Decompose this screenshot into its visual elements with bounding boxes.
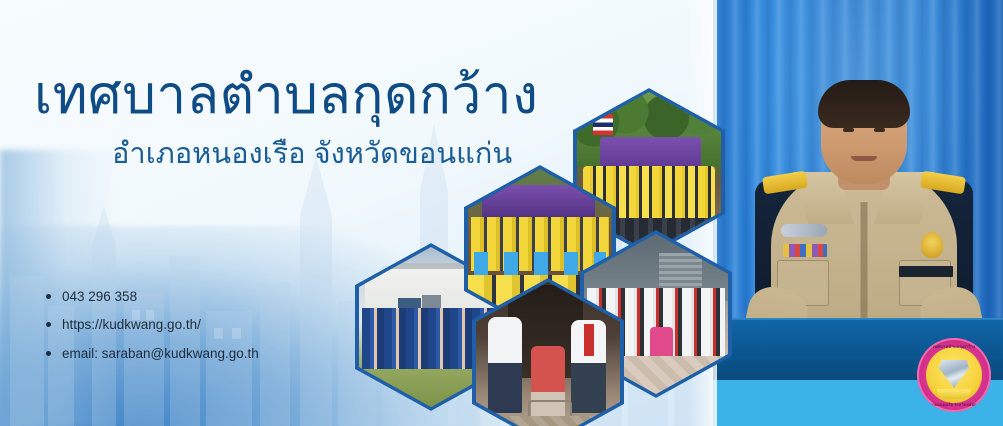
seal-text-bottom: อำเภอหนองเรือ จังหวัดขอนแก่น: [917, 402, 991, 408]
seal-wave-emblem: [937, 389, 971, 399]
official-left: [488, 317, 523, 413]
seal-text-top: เทศบาลตำบลกุดกว้าง: [917, 343, 991, 350]
roller-shutter: [659, 253, 702, 291]
municipal-seal[interactable]: เทศบาลตำบลกุดกว้าง อำเภอหนองเรือ จังหวัด…: [917, 338, 991, 412]
hex-photo-cluster: [0, 0, 1003, 426]
municipality-banner: เทศบาลตำบลกุดกว้าง อำเภอหนองเรือ จังหวัด…: [0, 0, 1003, 426]
red-scarf: [584, 324, 594, 356]
